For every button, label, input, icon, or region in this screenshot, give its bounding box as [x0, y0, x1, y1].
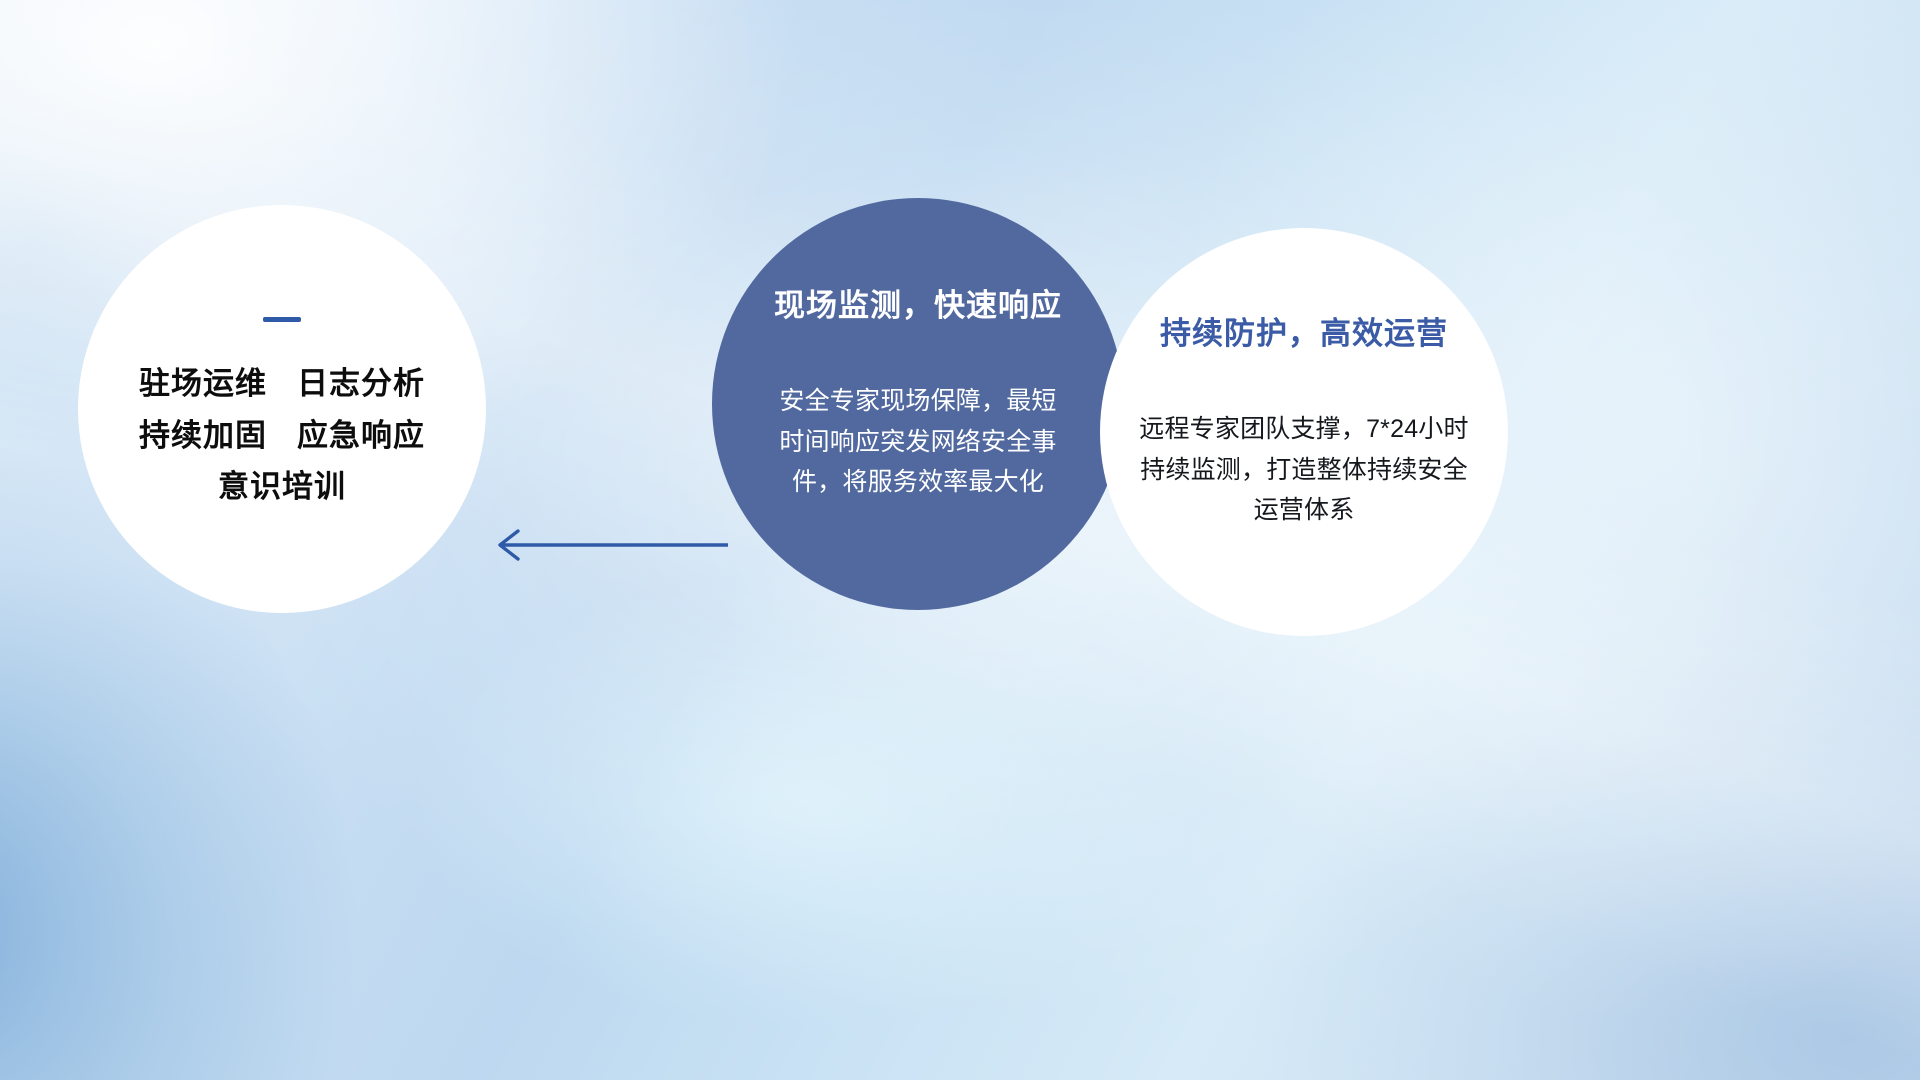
- capability-tag: 日志分析: [297, 366, 425, 402]
- capability-tag: 持续加固: [139, 418, 267, 454]
- continuous-protection-circle[interactable]: 持续防护，高效运营 远程专家团队支撑，7*24小时持续监测，打造整体持续安全运营…: [1100, 228, 1508, 636]
- slide-canvas: 驻场运维 日志分析 持续加固 应急响应 意识培训 现场监测，快速响应 安全专家现…: [0, 0, 1920, 1080]
- flow-arrow-left: [480, 500, 730, 590]
- onsite-monitoring-title: 现场监测，快速响应: [774, 280, 1062, 325]
- capability-tag-row: 持续加固 应急响应: [139, 418, 425, 454]
- capability-tag: 意识培训: [218, 469, 346, 505]
- onsite-monitoring-body: 安全专家现场保障，最短时间响应突发网络安全事件，将服务效率最大化: [775, 381, 1061, 503]
- capability-tag: 应急响应: [297, 418, 425, 454]
- divider-dash-icon: [263, 317, 301, 322]
- capability-tag-row: 驻场运维 日志分析: [139, 366, 425, 402]
- capability-tag: 驻场运维: [139, 366, 267, 402]
- service-capability-circle[interactable]: 驻场运维 日志分析 持续加固 应急响应 意识培训: [78, 205, 486, 613]
- capability-tag-row: 意识培训: [218, 469, 346, 505]
- continuous-protection-body: 远程专家团队支撑，7*24小时持续监测，打造整体持续安全运营体系: [1132, 409, 1476, 531]
- continuous-protection-title: 持续防护，高效运营: [1160, 308, 1448, 353]
- onsite-monitoring-circle[interactable]: 现场监测，快速响应 安全专家现场保障，最短时间响应突发网络安全事件，将服务效率最…: [712, 198, 1124, 610]
- capability-tag-list: 驻场运维 日志分析 持续加固 应急响应 意识培训: [139, 366, 425, 505]
- arrow-left-icon: [500, 531, 728, 559]
